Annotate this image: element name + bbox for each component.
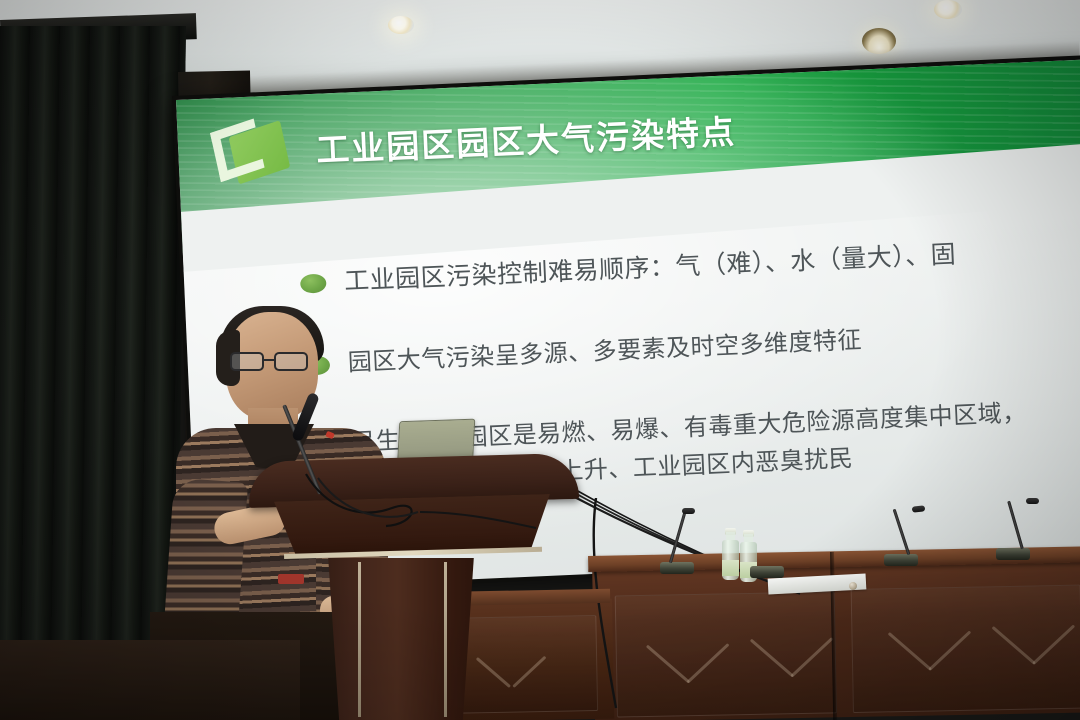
podium-column: [310, 558, 492, 720]
table-microphone-base: [996, 548, 1030, 560]
table-microphone-base: [660, 562, 694, 574]
eyeglasses-icon: [230, 352, 316, 372]
table-microphone-capsule: [1026, 498, 1039, 504]
green-diamond-logo: [213, 118, 304, 188]
hanging-cable-left: [586, 498, 646, 718]
podium-groove: [358, 562, 361, 717]
table-microphone-base: [750, 566, 784, 578]
bullet-dot-icon: [300, 274, 327, 294]
lens-right: [274, 352, 308, 371]
table-microphone-base: [884, 554, 918, 566]
presentation-photo-scene: 工业园区园区大气污染特点 工业园区污染控制难易顺序：气（难）、水（量大）、固 园…: [0, 0, 1080, 720]
bullet-text: 园区大气污染呈多源、多要素及时空多维度特征: [347, 312, 1080, 380]
table-microphone-capsule: [682, 508, 695, 514]
desk-screw: [849, 582, 857, 590]
ceiling-downlight: [388, 16, 414, 34]
lens-left: [230, 352, 264, 371]
ceiling-downlight: [934, 0, 962, 19]
bottle-label: [722, 560, 739, 576]
glasses-bridge: [264, 359, 276, 361]
microphone-cables: [300, 468, 540, 538]
list-item: 园区大气污染呈多源、多要素及时空多维度特征: [303, 312, 1080, 382]
podium-groove: [444, 562, 447, 717]
